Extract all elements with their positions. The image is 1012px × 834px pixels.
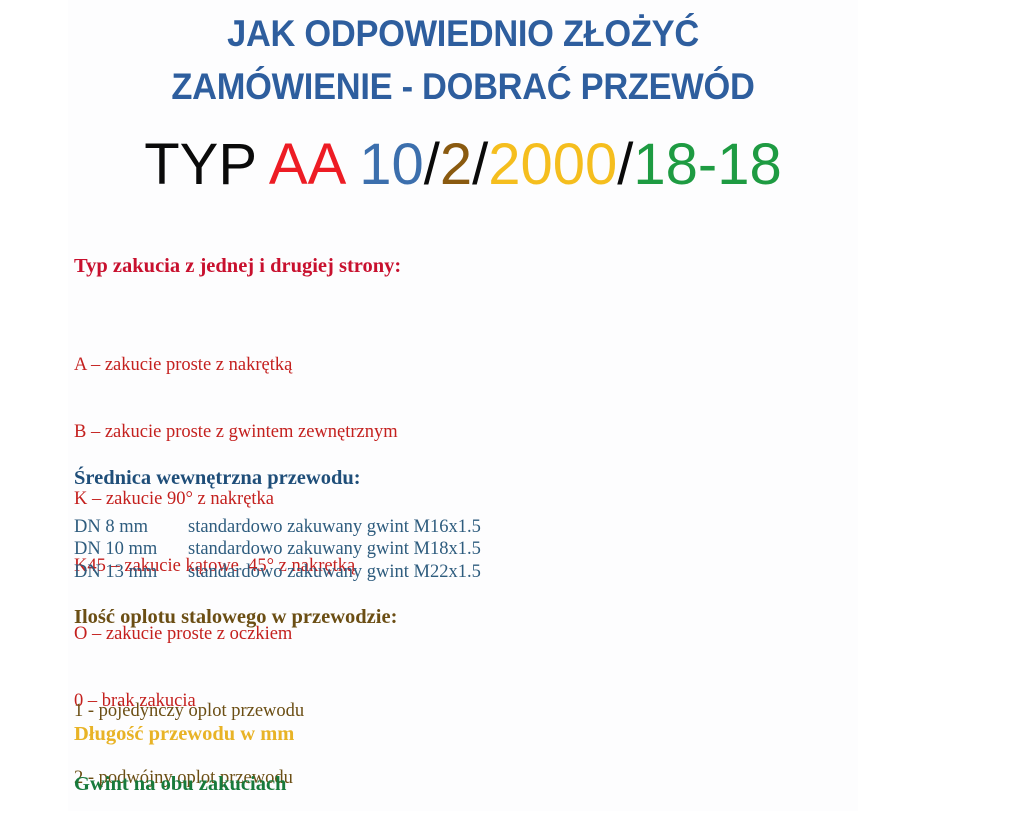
code-segment-braid: 2 [440, 132, 472, 197]
section-inner-diameter-heading: Średnica wewnętrzna przewodu: [74, 467, 854, 491]
page-title: JAK ODPOWIEDNIO ZŁOŻYĆ ZAMÓWIENIE - DOBR… [96, 8, 831, 113]
code-space-1 [256, 132, 269, 197]
table-row: DN 8 mmstandardowo zakuwany gwint M16x1.… [74, 516, 481, 538]
table-row: DN 10 mmstandardowo zakuwany gwint M18x1… [74, 538, 481, 560]
diameter-dn-value: DN 13 mm [74, 561, 188, 583]
diameter-dn-value: DN 8 mm [74, 516, 188, 538]
list-item: 1 - pojedynczy oplot przewodu [74, 700, 854, 722]
section-inner-diameter: Średnica wewnętrzna przewodu: [74, 467, 854, 491]
page-title-line-2: ZAMÓWIENIE - DOBRAĆ PRZEWÓD [96, 61, 831, 114]
section-hose-length-heading: Długość przewodu w mm [74, 723, 854, 747]
diameter-thread-desc: standardowo zakuwany gwint M22x1.5 [188, 561, 481, 583]
list-item: A – zakucie proste z nakrętką [74, 354, 854, 376]
code-segment-length: 2000 [488, 132, 617, 197]
diameter-thread-desc: standardowo zakuwany gwint M18x1.5 [188, 538, 481, 560]
section-thread: Gwint na obu zakuciach [74, 773, 854, 797]
table-row: DN 13 mmstandardowo zakuwany gwint M22x1… [74, 561, 481, 583]
inner-diameter-table: DN 8 mmstandardowo zakuwany gwint M16x1.… [74, 516, 481, 583]
section-fitting-type: Typ zakucia z jednej i drugiej strony: [74, 255, 854, 279]
product-code-example: TYP AA 10/2/2000/18-18 [68, 136, 858, 194]
section-fitting-type-heading: Typ zakucia z jednej i drugiej strony: [74, 255, 854, 279]
section-thread-heading: Gwint na obu zakuciach [74, 773, 854, 797]
page-title-line-1: JAK ODPOWIEDNIO ZŁOŻYĆ [96, 8, 831, 61]
list-item: K – zakucie 90° z nakrętka [74, 488, 854, 510]
section-inner-diameter-body: DN 8 mmstandardowo zakuwany gwint M16x1.… [74, 516, 854, 583]
code-separator-1: / [424, 132, 440, 197]
slide-content: JAK ODPOWIEDNIO ZŁOŻYĆ ZAMÓWIENIE - DOBR… [0, 0, 1012, 811]
section-braid-count-heading: Ilość oplotu stalowego w przewodzie: [74, 606, 854, 630]
code-space-2 [343, 132, 359, 197]
code-segment-diameter: 10 [359, 132, 424, 197]
code-separator-3: / [617, 132, 633, 197]
section-braid-count: Ilość oplotu stalowego w przewodzie: [74, 606, 854, 630]
diameter-thread-desc: standardowo zakuwany gwint M16x1.5 [188, 516, 481, 538]
section-hose-length: Długość przewodu w mm [74, 723, 854, 747]
code-segment-fitting: AA [269, 132, 343, 197]
code-segment-thread: 18-18 [633, 132, 781, 197]
diameter-dn-value: DN 10 mm [74, 538, 188, 560]
code-label-typ: TYP [144, 132, 256, 197]
list-item: B – zakucie proste z gwintem zewnętrznym [74, 421, 854, 443]
code-separator-2: / [472, 132, 488, 197]
